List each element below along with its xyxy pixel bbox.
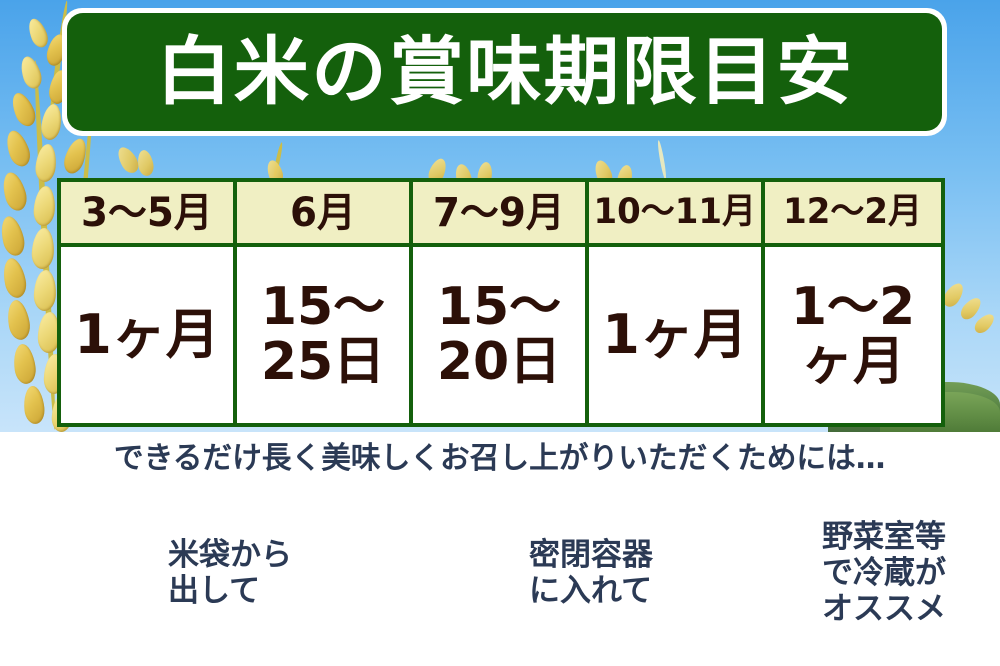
table-header-label-1: 6月: [290, 193, 356, 233]
table-column-2: 7～9月 15～ 20日: [413, 182, 589, 423]
table-body-label-3: 1ヶ月: [602, 307, 748, 362]
title-banner: 白米の賞味期限目安: [67, 13, 942, 131]
lead-text: できるだけ長く美味しくお召し上がりいただくためには…: [114, 433, 886, 477]
step-2: 密閉容器 に入れて: [529, 482, 653, 666]
table-body-cell-3: 1ヶ月: [589, 247, 761, 423]
table-column-3: 10～11月 1ヶ月: [589, 182, 765, 423]
table-header-label-4: 12～2月: [784, 195, 923, 230]
infographic-poster: 白米の賞味期限目安 3～5月 1ヶ月 6月 15～ 25日 7～9月 15～ 2: [0, 0, 1000, 666]
table-column-4: 12～2月 1～2 ヶ月: [765, 182, 941, 423]
table-column-0: 3～5月 1ヶ月: [61, 182, 237, 423]
lead-text-row: できるだけ長く美味しくお召し上がりいただくためには…: [0, 434, 1000, 476]
table-body-cell-0: 1ヶ月: [61, 247, 233, 423]
table-body-label-4: 1～2 ヶ月: [765, 280, 941, 389]
table-body-label-2: 15～ 20日: [413, 280, 585, 389]
table-header-label-3: 10～11月: [594, 195, 756, 230]
step-1-label: 米袋から 出して: [168, 538, 292, 610]
table-body-label-0: 1ヶ月: [74, 307, 220, 362]
table-header-cell-2: 7～9月: [413, 182, 585, 247]
step-3-label: 野菜室等 で冷蔵が オススメ: [822, 520, 946, 628]
table-body-cell-4: 1～2 ヶ月: [765, 247, 941, 423]
table-body-cell-1: 15～ 25日: [237, 247, 409, 423]
step-3: 野菜室等 で冷蔵が オススメ: [822, 482, 946, 666]
table-header-label-0: 3～5月: [81, 193, 213, 233]
step-1: 米袋から 出して: [168, 482, 292, 666]
table-header-cell-0: 3～5月: [61, 182, 233, 247]
table-header-cell-1: 6月: [237, 182, 409, 247]
storage-steps: 米袋から 出して: [0, 482, 1000, 666]
table-header-cell-3: 10～11月: [589, 182, 761, 247]
table-body-label-1: 15～ 25日: [237, 280, 409, 389]
table-header-label-2: 7～9月: [433, 193, 565, 233]
table-body-cell-2: 15～ 20日: [413, 247, 585, 423]
table-header-cell-4: 12～2月: [765, 182, 941, 247]
page-title: 白米の賞味期限目安: [156, 35, 854, 109]
table-column-1: 6月 15～ 25日: [237, 182, 413, 423]
step-2-label: 密閉容器 に入れて: [529, 538, 653, 610]
shelf-life-table: 3～5月 1ヶ月 6月 15～ 25日 7～9月 15～ 20日 10～11: [57, 178, 945, 427]
